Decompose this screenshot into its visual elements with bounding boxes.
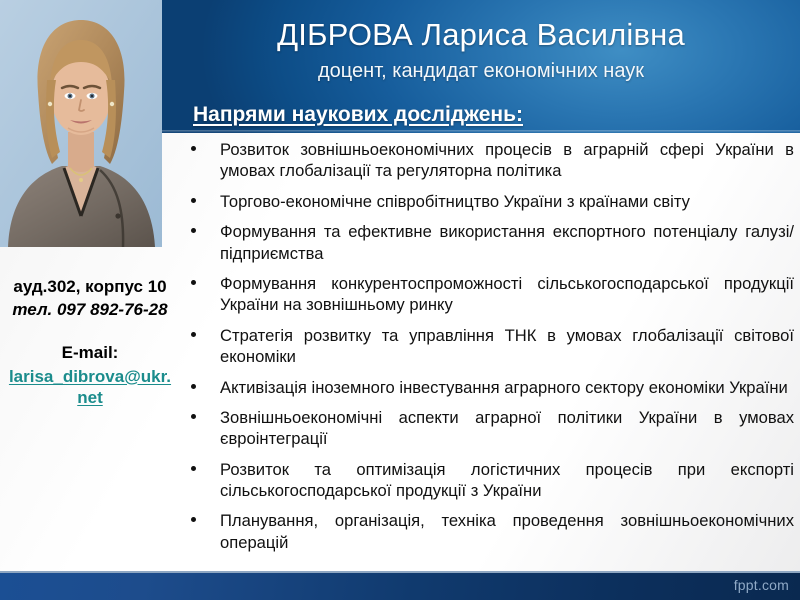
page-title: ДІБРОВА Лариса Василівна (162, 17, 800, 53)
bullet-dot-icon (191, 146, 196, 151)
bullet-dot-icon (191, 280, 196, 285)
header-banner: ДІБРОВА Лариса Василівна доцент, кандида… (162, 0, 800, 133)
bullet-dot-icon (191, 384, 196, 389)
contact-phone: тел. 097 892-76-28 (0, 299, 180, 320)
list-item-text: Зовнішньоекономічні аспекти аграрної пол… (220, 408, 794, 448)
section-heading: Напрями наукових досліджень: (193, 103, 523, 127)
bullet-dot-icon (191, 466, 196, 471)
contact-room: ауд.302, корпус 10 (0, 276, 180, 297)
list-item: Торгово-економічне співробітництво Украї… (186, 191, 794, 212)
list-item: Розвиток та оптимізація логістичних проц… (186, 459, 794, 502)
bullet-dot-icon (191, 332, 196, 337)
list-item-text: Розвиток та оптимізація логістичних проц… (220, 460, 794, 500)
list-item: Планування, організація, техніка проведе… (186, 510, 794, 553)
bullet-dot-icon (191, 414, 196, 419)
list-item: Формування конкурентоспроможності сільсь… (186, 273, 794, 316)
research-directions-list: Розвиток зовнішньоекономічних процесів в… (186, 139, 794, 553)
list-item-text: Формування та ефективне використання екс… (220, 222, 794, 262)
list-item-text: Планування, організація, техніка проведе… (220, 511, 794, 551)
portrait-photo-graphic (0, 0, 162, 247)
list-item: Стратегія розвитку та управління ТНК в у… (186, 325, 794, 368)
list-item-text: Торгово-економічне співробітництво Украї… (220, 192, 690, 211)
bullet-dot-icon (191, 228, 196, 233)
watermark-label: fppt.com (734, 577, 789, 593)
list-item-text: Розвиток зовнішньоекономічних процесів в… (220, 140, 794, 180)
list-item-text: Стратегія розвитку та управління ТНК в у… (220, 326, 794, 366)
contact-email-link[interactable]: larisa_dibrova@ukr.net (4, 366, 176, 410)
list-item: Активізація іноземного інвестування агра… (186, 377, 794, 398)
list-item-text: Формування конкурентоспроможності сільсь… (220, 274, 794, 314)
page-subtitle: доцент, кандидат економічних наук (162, 60, 800, 83)
portrait-photo (0, 0, 162, 247)
list-item-text: Активізація іноземного інвестування агра… (220, 378, 788, 397)
bullet-dot-icon (191, 517, 196, 522)
list-item: Розвиток зовнішньоекономічних процесів в… (186, 139, 794, 182)
contact-email-label: E-mail: (0, 343, 180, 363)
footer-banner: fppt.com (0, 571, 800, 600)
contact-panel: ауд.302, корпус 10 тел. 097 892-76-28 E-… (0, 250, 180, 409)
list-item: Зовнішньоекономічні аспекти аграрної пол… (186, 407, 794, 450)
bullet-dot-icon (191, 198, 196, 203)
list-item: Формування та ефективне використання екс… (186, 221, 794, 264)
presentation-slide: ДІБРОВА Лариса Василівна доцент, кандида… (0, 0, 800, 600)
